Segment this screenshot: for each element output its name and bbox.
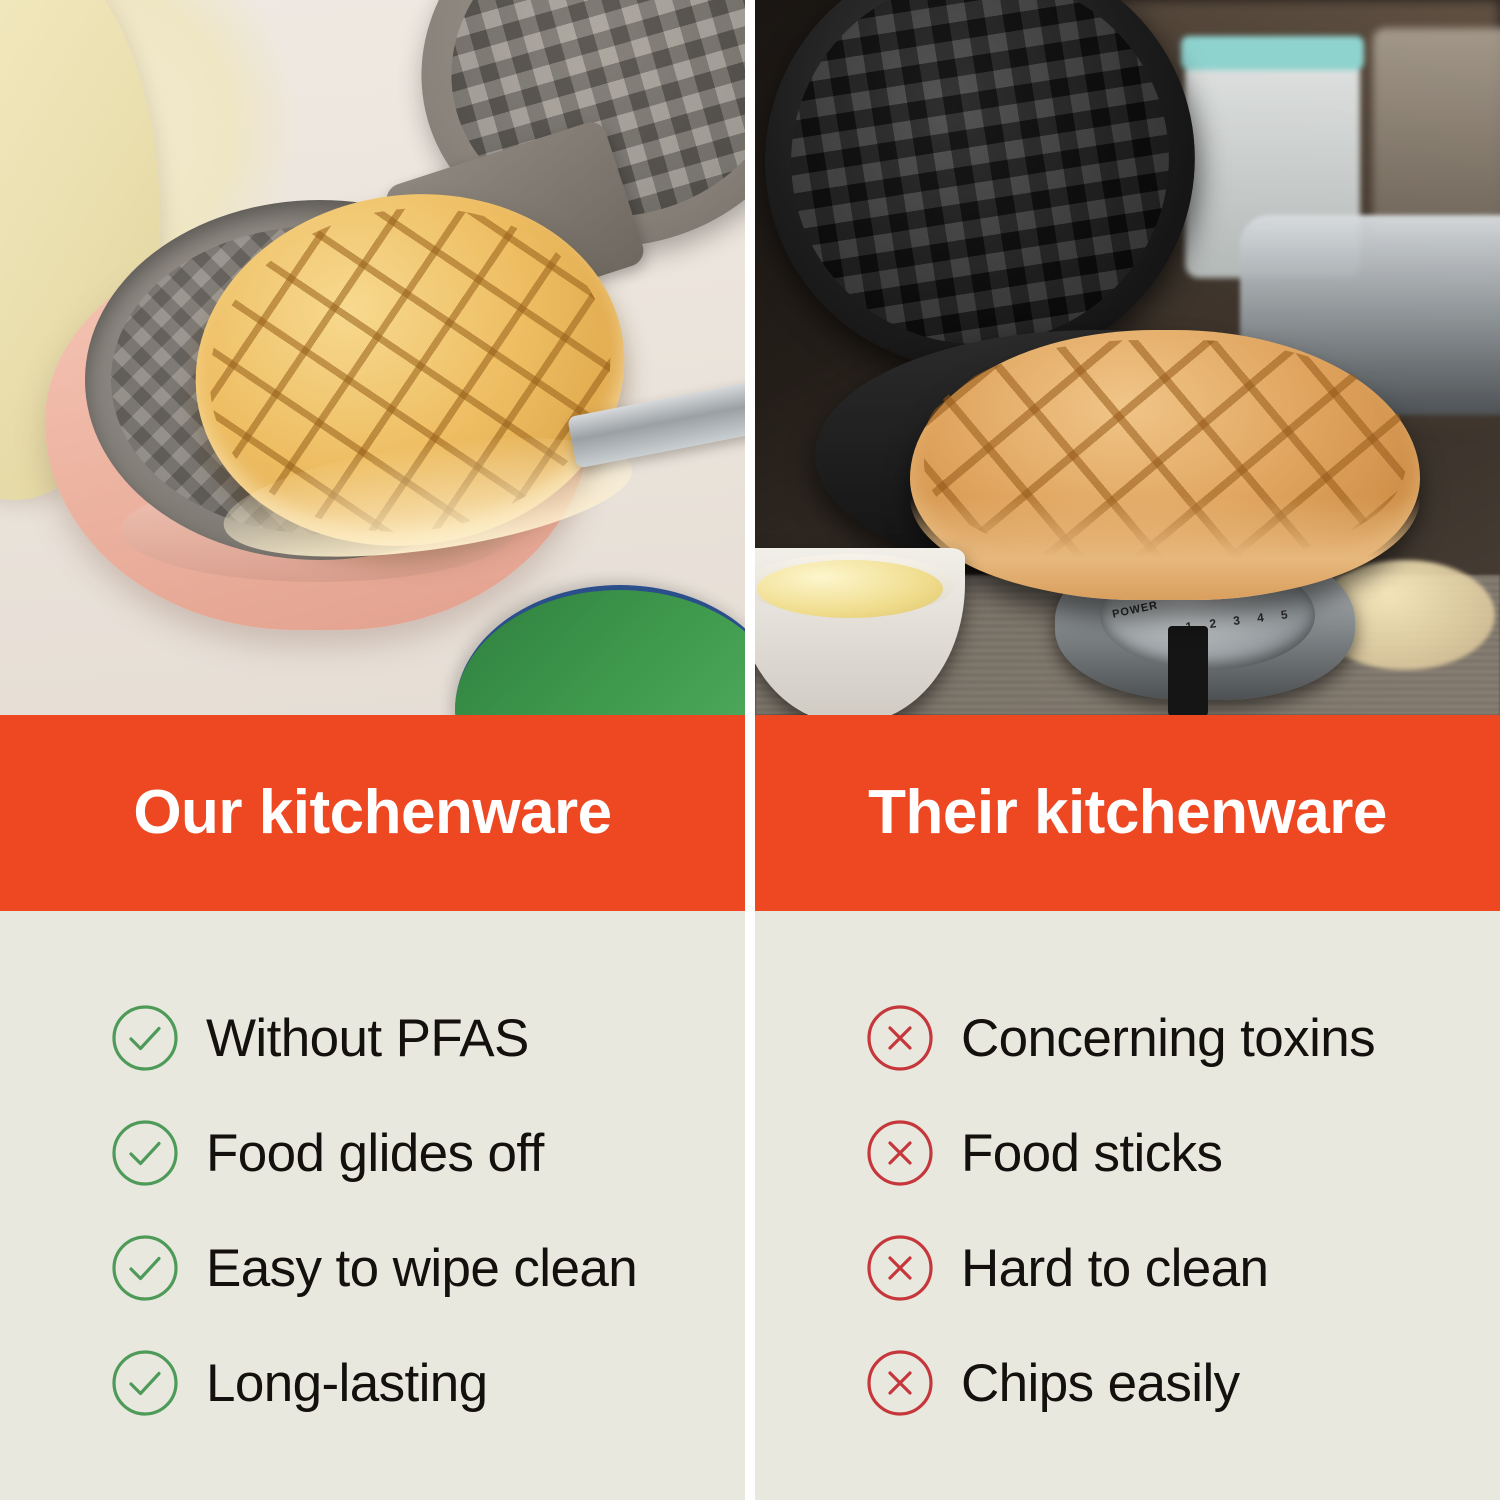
- list-item: Easy to wipe clean: [110, 1233, 745, 1303]
- check-circle-icon: [110, 1348, 180, 1418]
- glass-jar: [1373, 28, 1500, 238]
- butter: [757, 560, 943, 618]
- banner-title-our: Our kitchenware: [133, 782, 611, 844]
- list-item-label: Chips easily: [961, 1357, 1240, 1410]
- x-circle-icon: [865, 1348, 935, 1418]
- list-item-label: Food glides off: [206, 1127, 544, 1180]
- list-item-label: Long-lasting: [206, 1357, 488, 1410]
- green-plate: [455, 585, 745, 715]
- benefit-list-ours: Without PFAS Food glides off Easy to wip…: [0, 911, 745, 1500]
- browned-waffle: [910, 330, 1420, 600]
- list-item: Food sticks: [865, 1118, 1500, 1188]
- iron-latch-strap: [1168, 626, 1208, 715]
- comparison-infographic: Our kitchenware Without PFAS Food glides…: [0, 0, 1500, 1500]
- check-circle-icon: [110, 1233, 180, 1303]
- power-label: POWER: [1111, 599, 1159, 620]
- banner-our-kitchenware: Our kitchenware: [0, 715, 745, 911]
- list-item-label: Hard to clean: [961, 1242, 1268, 1295]
- check-circle-icon: [110, 1118, 180, 1188]
- banner-title-their: Their kitchenware: [868, 782, 1387, 844]
- list-item: Long-lasting: [110, 1348, 745, 1418]
- photo-our-kitchenware: [0, 0, 745, 715]
- list-item-label: Without PFAS: [206, 1012, 529, 1065]
- list-item-label: Concerning toxins: [961, 1012, 1375, 1065]
- list-item: Food glides off: [110, 1118, 745, 1188]
- list-item: Chips easily: [865, 1348, 1500, 1418]
- x-circle-icon: [865, 1003, 935, 1073]
- list-item: Hard to clean: [865, 1233, 1500, 1303]
- list-item-label: Easy to wipe clean: [206, 1242, 637, 1295]
- banner-their-kitchenware: Their kitchenware: [755, 715, 1500, 911]
- column-our-kitchenware: Our kitchenware Without PFAS Food glides…: [0, 0, 745, 1500]
- x-circle-icon: [865, 1233, 935, 1303]
- list-item-label: Food sticks: [961, 1127, 1222, 1180]
- list-item: Without PFAS: [110, 1003, 745, 1073]
- x-circle-icon: [865, 1118, 935, 1188]
- column-their-kitchenware: POWER 1 2 3 4 5 6 Their kitchenware Conc…: [755, 0, 1500, 1500]
- drawback-list-theirs: Concerning toxins Food sticks Hard to cl…: [755, 911, 1500, 1500]
- check-circle-icon: [110, 1003, 180, 1073]
- list-item: Concerning toxins: [865, 1003, 1500, 1073]
- photo-their-kitchenware: POWER 1 2 3 4 5 6: [755, 0, 1500, 715]
